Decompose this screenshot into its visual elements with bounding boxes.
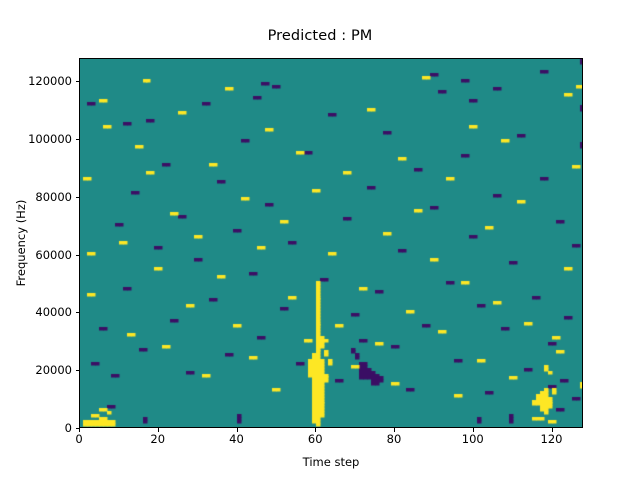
y-tick-mark: [76, 255, 80, 256]
x-tick-label: 20: [128, 432, 188, 446]
y-tick-label: 20000: [0, 363, 72, 377]
x-tick-mark: [315, 428, 316, 432]
x-tick-mark: [552, 428, 553, 432]
y-tick-label: 80000: [0, 190, 72, 204]
x-tick-label: 40: [207, 432, 267, 446]
y-tick-label: 120000: [0, 74, 72, 88]
y-tick-label: 40000: [0, 305, 72, 319]
y-tick-label: 100000: [0, 132, 72, 146]
y-tick-mark: [76, 197, 80, 198]
x-tick-mark: [237, 428, 238, 432]
heatmap-image: [80, 59, 583, 428]
figure-canvas: Predicted : PM Frequency (Hz) Time step …: [0, 0, 640, 480]
x-tick-label: 60: [285, 432, 345, 446]
y-tick-mark: [76, 139, 80, 140]
x-tick-mark: [79, 428, 80, 432]
x-tick-label: 100: [443, 432, 503, 446]
x-tick-mark: [394, 428, 395, 432]
x-tick-label: 80: [364, 432, 424, 446]
y-tick-mark: [76, 312, 80, 313]
y-tick-mark: [76, 81, 80, 82]
y-tick-mark: [76, 370, 80, 371]
x-tick-mark: [473, 428, 474, 432]
x-tick-label: 0: [49, 432, 109, 446]
x-tick-label: 120: [522, 432, 582, 446]
x-axis-label: Time step: [79, 455, 583, 469]
x-tick-mark: [158, 428, 159, 432]
y-tick-label: 60000: [0, 248, 72, 262]
heatmap-plot-area[interactable]: [79, 58, 583, 428]
page-title: Predicted : PM: [0, 28, 640, 44]
